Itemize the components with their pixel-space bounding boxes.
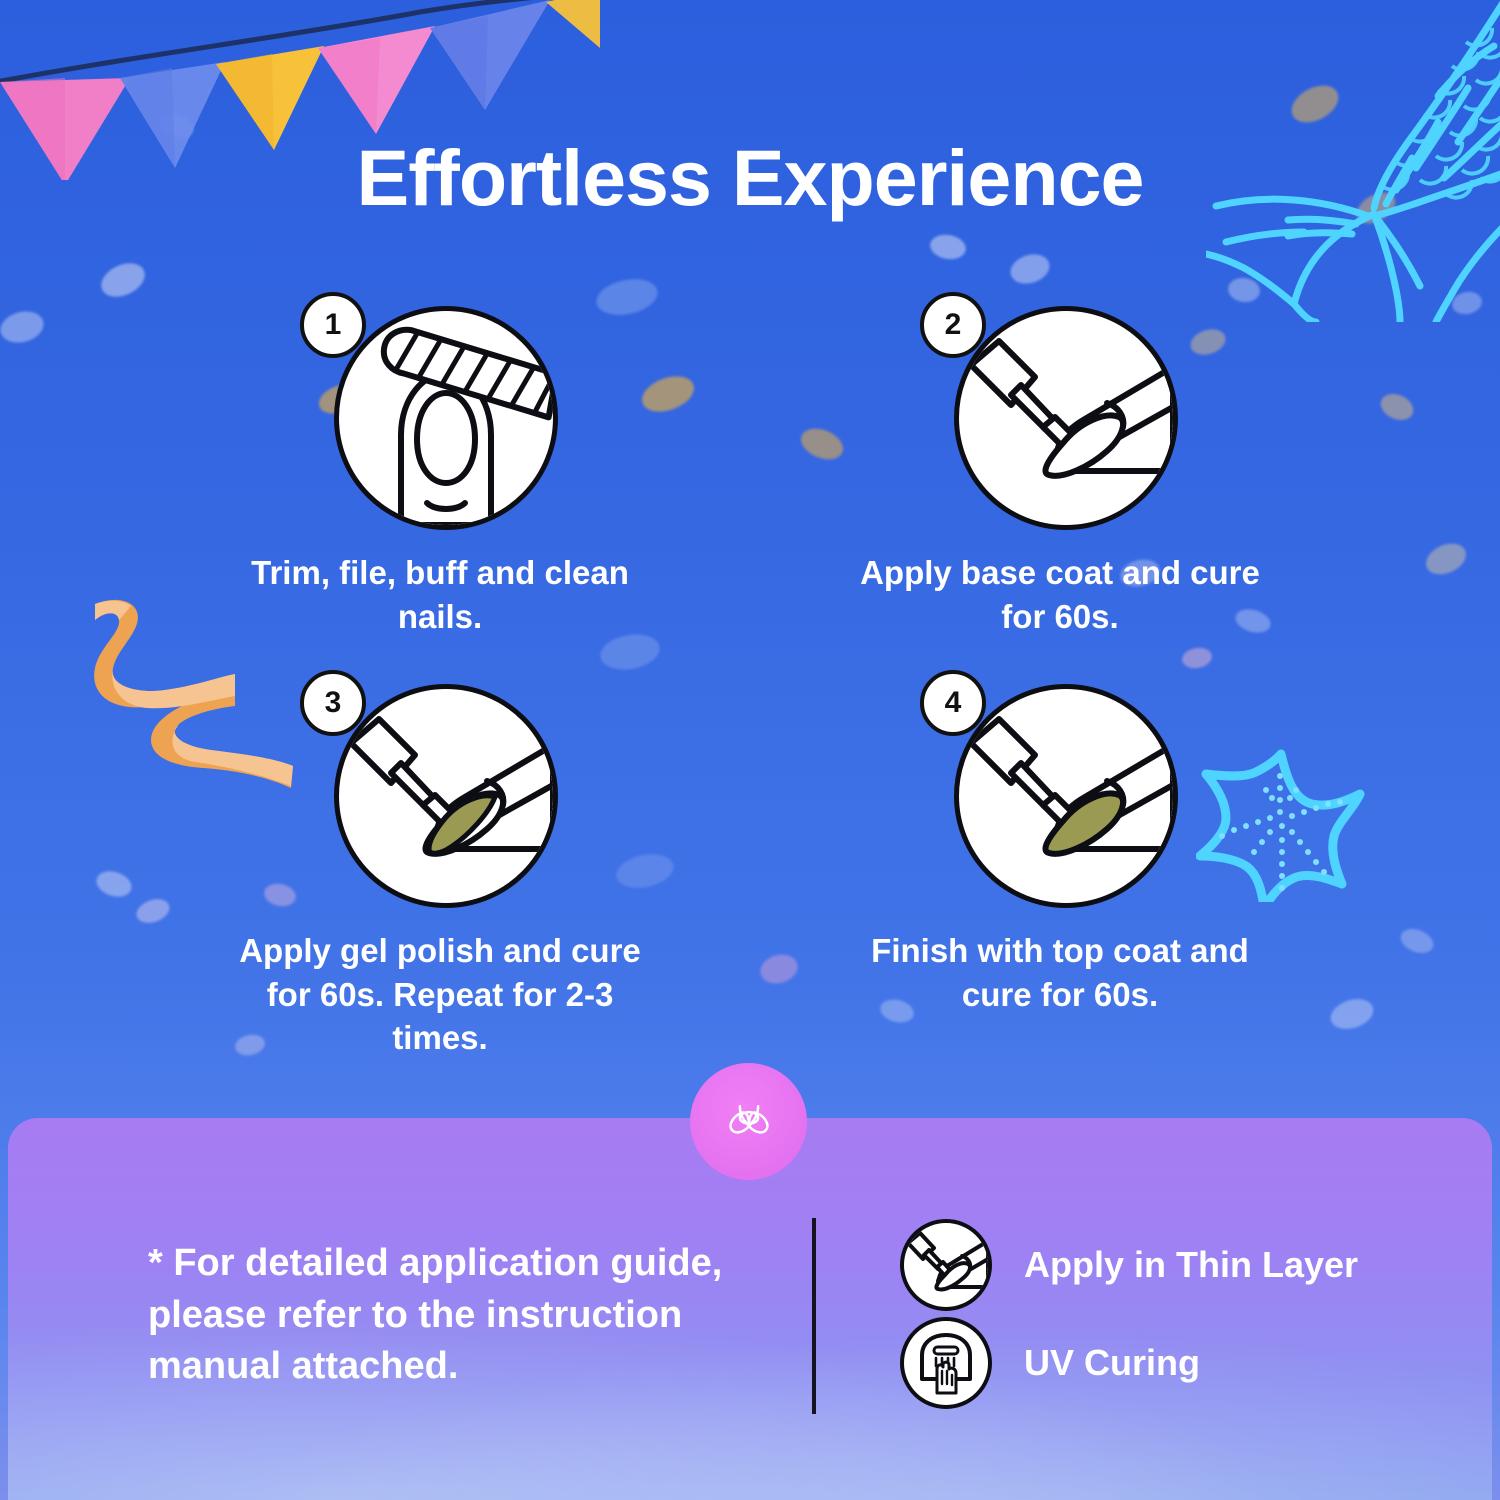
page-title: Effortless Experience xyxy=(0,132,1500,224)
step-item-1: 1 xyxy=(180,288,700,638)
top-coat-brush-icon xyxy=(954,684,1178,908)
feature-list: Apply in Thin Layer xyxy=(900,1216,1420,1412)
feature-label: UV Curing xyxy=(1024,1342,1200,1384)
confetti-dot xyxy=(96,257,150,304)
step-artwork-3: 3 xyxy=(290,666,590,911)
step-caption: Apply gel polish and cure for 60s. Repea… xyxy=(225,929,655,1060)
step-number-badge: 2 xyxy=(920,292,986,358)
uv-lamp-icon xyxy=(900,1317,992,1409)
confetti-dot xyxy=(1421,538,1471,581)
thin-layer-brush-icon xyxy=(900,1219,992,1311)
step-caption: Finish with top coat and cure for 60s. xyxy=(845,929,1275,1016)
confetti-dot xyxy=(1397,924,1437,957)
confetti-dot xyxy=(1007,250,1054,289)
brand-logo-badge xyxy=(690,1063,807,1180)
step-artwork-2: 2 xyxy=(910,288,1210,533)
step-number-badge: 4 xyxy=(920,670,986,736)
streamer-ribbon xyxy=(85,590,305,800)
step-artwork-1: 1 xyxy=(290,288,590,533)
confetti-dot xyxy=(1377,389,1418,425)
step-artwork-4: 4 xyxy=(910,666,1210,911)
confetti-dot xyxy=(1327,994,1377,1034)
step-number-badge: 3 xyxy=(300,670,366,736)
gel-polish-brush-icon xyxy=(334,684,558,908)
step-item-4: 4 Finish with top co xyxy=(800,666,1320,1060)
interlocking-loops-logo xyxy=(720,1093,778,1151)
confetti-dot xyxy=(133,895,172,927)
nail-file-icon xyxy=(334,306,558,530)
confetti-dot xyxy=(0,307,47,347)
confetti-dot xyxy=(93,867,135,901)
confetti-dot xyxy=(928,232,968,262)
step-item-2: 2 Apply base coat xyxy=(800,288,1320,638)
vertical-divider xyxy=(812,1218,816,1414)
step-caption: Apply base coat and cure for 60s. xyxy=(845,551,1275,638)
poster-canvas: Effortless Experience 1 xyxy=(0,0,1500,1500)
step-number-badge: 1 xyxy=(300,292,366,358)
base-coat-brush-icon xyxy=(954,306,1178,530)
feature-item-thin-layer: Apply in Thin Layer xyxy=(900,1216,1420,1314)
instruction-note: * For detailed application guide, please… xyxy=(148,1238,778,1393)
feature-label: Apply in Thin Layer xyxy=(1024,1244,1358,1286)
steps-grid: 1 xyxy=(180,288,1320,1060)
feature-item-uv-curing: UV Curing xyxy=(900,1314,1420,1412)
